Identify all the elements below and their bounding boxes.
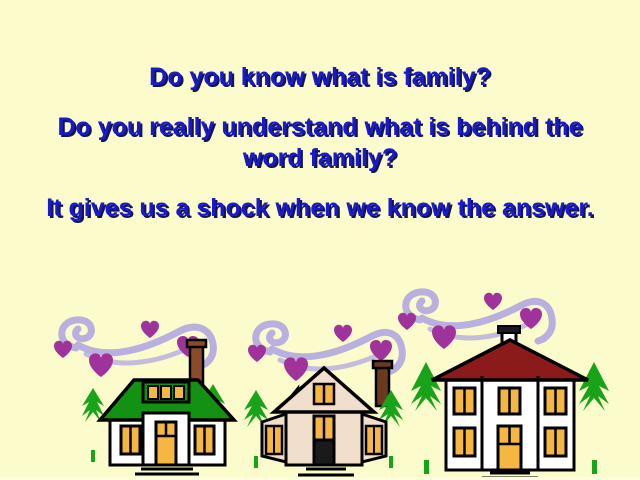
headline-line-1: Do you know what is family? xyxy=(0,62,640,93)
headline-line-3: It gives us a shock when we know the ans… xyxy=(0,193,640,224)
house-green-roof-cottage xyxy=(38,270,238,480)
dormer-window-3 xyxy=(174,386,184,399)
house-beige-gabled xyxy=(228,270,418,480)
headline-text-block: Do you know what is family? Do you reall… xyxy=(0,62,640,224)
dormer-window-1 xyxy=(148,386,158,399)
house-green-roof-cottage-svg xyxy=(38,270,238,480)
slide-canvas: Do you know what is family? Do you reall… xyxy=(0,0,640,480)
chimney-cap xyxy=(498,326,520,333)
chimney xyxy=(190,345,203,383)
house-red-roof-colonial-svg xyxy=(398,270,628,480)
front-door xyxy=(314,440,334,465)
fir-tree-left xyxy=(82,388,104,462)
house-red-roof-colonial xyxy=(398,270,628,480)
dormer-window-2 xyxy=(161,386,171,399)
headline-line-2: Do you really understand what is behind … xyxy=(0,112,640,174)
chimney-cap xyxy=(373,361,392,368)
chimney-cap xyxy=(187,340,206,347)
house-beige-gabled-svg xyxy=(228,270,418,480)
roof xyxy=(432,340,588,380)
house-illustration-scene xyxy=(0,270,640,480)
